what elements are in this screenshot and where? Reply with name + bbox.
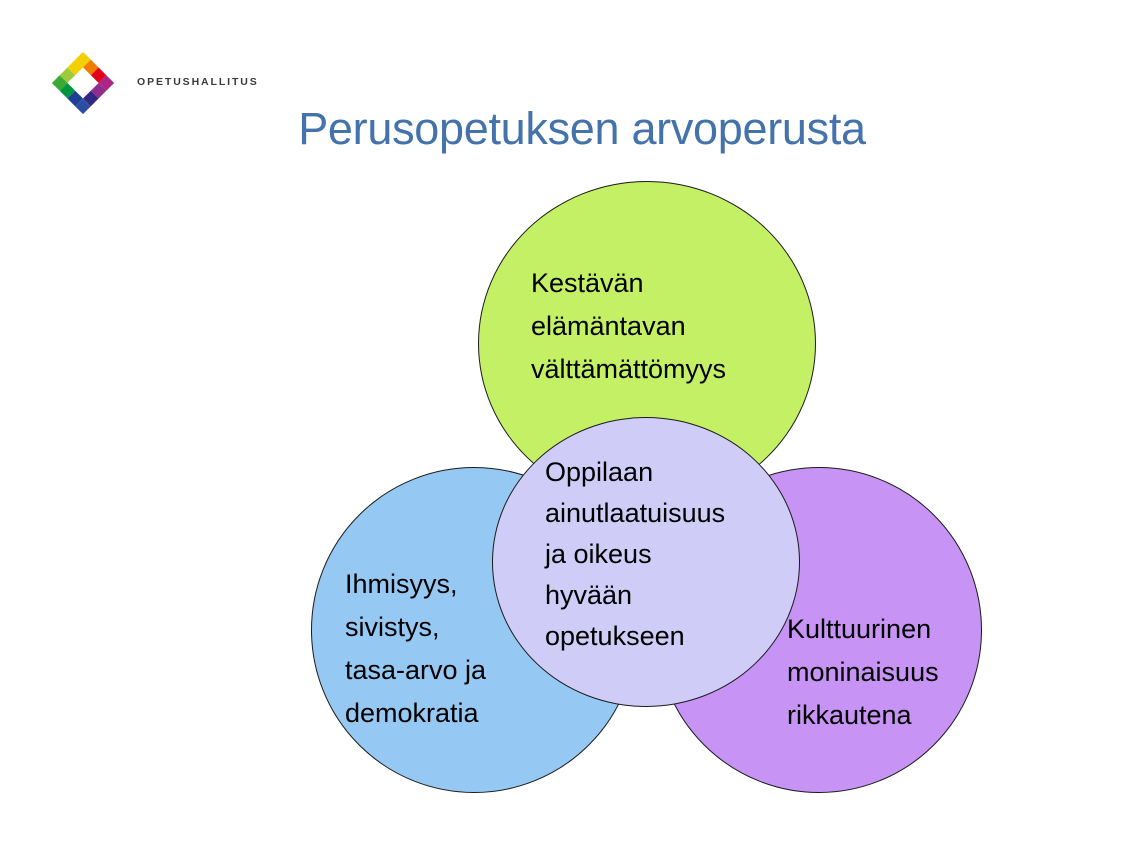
circle-label-sustainable-living: Kestävän elämäntavan välttämättömyys <box>531 262 726 391</box>
circle-label-humanity-equality: Ihmisyys, sivistys, tasa-arvo ja demokra… <box>345 563 486 735</box>
slide-canvas: OPETUSHALLITUS Perusopetuksen arvoperust… <box>0 0 1146 844</box>
logo-wordmark: OPETUSHALLITUS <box>137 76 259 88</box>
circle-label-cultural-diversity: Kulttuurinen moninaisuus rikkautena <box>787 608 939 737</box>
page-title: Perusopetuksen arvoperusta <box>0 103 1146 155</box>
circle-label-pupil-uniqueness: Oppilaan ainutlaatuisuus ja oikeus hyvää… <box>545 452 725 657</box>
